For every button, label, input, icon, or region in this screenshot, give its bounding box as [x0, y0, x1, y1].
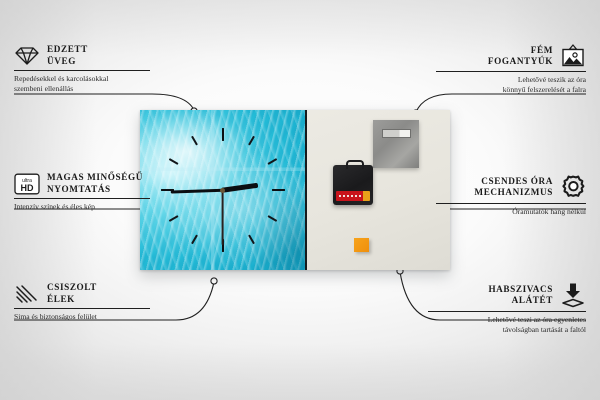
divider: [436, 71, 586, 72]
feature-habszivacs-alatet: HABSZIVACS ALÁTÉT Lehetővé teszi az óra …: [428, 282, 586, 334]
foam-pad: [354, 238, 369, 252]
feature-edzett-uveg: EDZETT ÜVEG Repedésekkel és karcolásokka…: [14, 44, 150, 93]
feature-desc: Sima és biztonságos felület: [14, 312, 150, 322]
divider: [14, 308, 150, 309]
clock-hub: [220, 188, 225, 193]
product-photo: [140, 110, 450, 270]
battery: [336, 191, 370, 201]
connector-dot-csiszolt-elek: [211, 278, 217, 284]
second-hand: [222, 190, 224, 245]
foam-pad-arrow-icon: [560, 282, 586, 308]
feature-title: MAGAS MINŐSÉGŰ NYOMTATÁS: [47, 172, 143, 195]
feature-magas-minosegu-nyomtatas: ultra HD MAGAS MINŐSÉGŰ NYOMTATÁS Intenz…: [14, 172, 150, 212]
clock-back-panel: [307, 110, 450, 270]
feature-csiszolt-elek: CSISZOLT ÉLEK Sima és biztonságos felüle…: [14, 282, 150, 322]
divider: [14, 198, 150, 199]
divider: [436, 203, 586, 204]
feature-title: FÉM FOGANTYÚK: [488, 45, 553, 68]
feature-csendes-ora-mechanizmus: CSENDES ÓRA MECHANIZMUS Óramutatók hang …: [436, 174, 586, 217]
feature-desc: Óramutatók hang nélkül: [436, 207, 586, 217]
feature-title: CSISZOLT ÉLEK: [47, 282, 97, 305]
feature-desc: Repedésekkel és karcolásokkal szembeni e…: [14, 74, 150, 93]
ultra-hd-icon: ultra HD: [14, 173, 40, 195]
feature-desc: Intenzív színek és éles kép: [14, 202, 150, 212]
feature-title: HABSZIVACS ALÁTÉT: [488, 284, 553, 307]
clock-hands: [140, 110, 305, 270]
quartz-mechanism: [333, 165, 373, 205]
infographic-canvas: EDZETT ÜVEG Repedésekkel és karcolásokka…: [0, 0, 600, 400]
divider: [14, 70, 150, 71]
feature-title: EDZETT ÜVEG: [47, 44, 88, 67]
hour-hand: [222, 183, 258, 192]
feature-desc: Lehetővé teszik az óra könnyű felszerelé…: [436, 75, 586, 94]
metal-hanger-plate: [373, 120, 419, 168]
clock-front-panel: [140, 110, 307, 270]
svg-text:HD: HD: [21, 183, 34, 193]
minute-hand: [170, 188, 222, 193]
feature-fem-fogantyuk: FÉM FOGANTYÚK Lehetővé teszik az óra kön…: [436, 44, 586, 94]
beveled-edges-icon: [14, 284, 40, 304]
diamond-icon: [14, 46, 40, 66]
connector-edzett-uveg: [14, 94, 194, 110]
feature-title: CSENDES ÓRA MECHANIZMUS: [474, 176, 553, 199]
feature-desc: Lehetővé teszi az óra egyenletes távolsá…: [428, 315, 586, 334]
gear-icon: [560, 174, 586, 200]
divider: [428, 311, 586, 312]
wall-mount-frame-icon: [560, 44, 586, 68]
